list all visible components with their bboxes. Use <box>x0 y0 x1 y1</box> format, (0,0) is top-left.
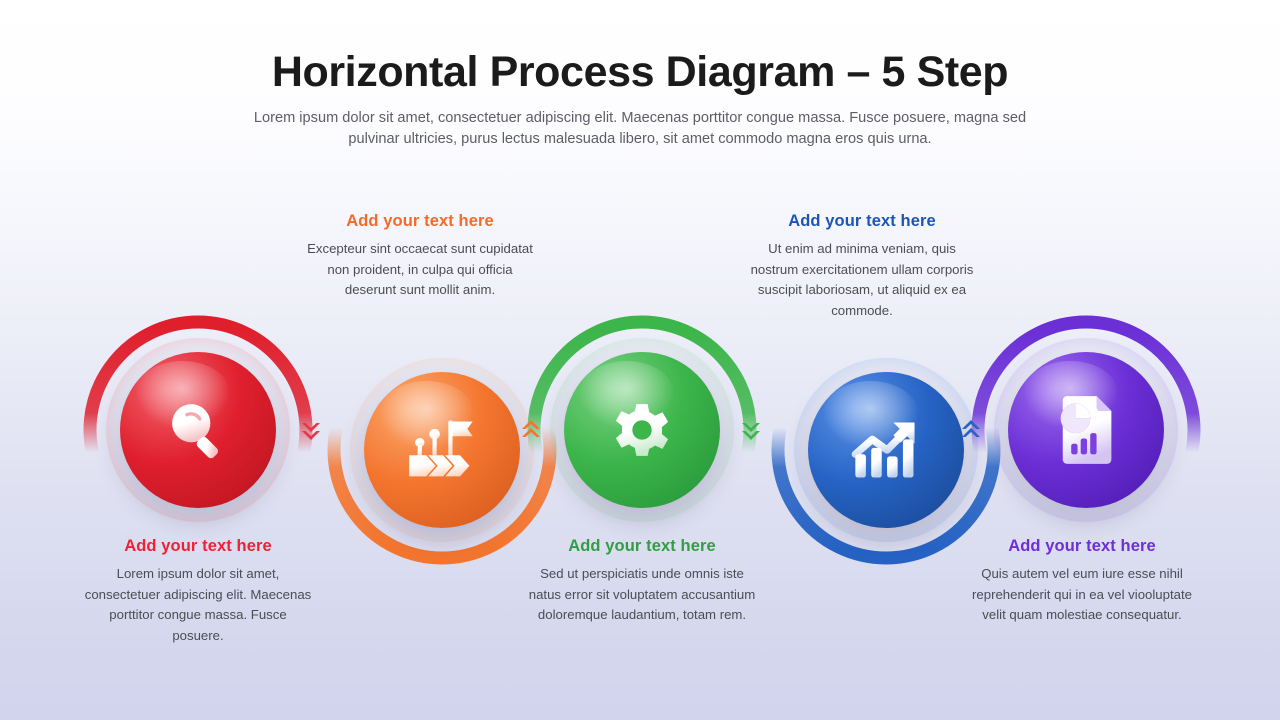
step-4-text-group: Add your text hereUt enim ad minima veni… <box>747 212 977 321</box>
chevron-double-down-icon <box>300 418 322 444</box>
page-subtitle: Lorem ipsum dolor sit amet, consectetuer… <box>250 108 1030 150</box>
step-3-icon-circle[interactable] <box>564 352 720 508</box>
step-2-orb[interactable] <box>342 350 542 550</box>
step-3-body[interactable]: Sed ut perspiciatis unde omnis iste natu… <box>527 564 757 626</box>
milestone-flag-icon <box>405 415 479 485</box>
report-pie-icon <box>1051 393 1121 467</box>
slide-canvas: Horizontal Process Diagram – 5 Step Lore… <box>0 0 1280 720</box>
step-2-icon-circle[interactable] <box>364 372 520 528</box>
step-1-orb[interactable] <box>98 330 298 530</box>
step-1-icon-circle[interactable] <box>120 352 276 508</box>
step-2-text-group: Add your text hereExcepteur sint occaeca… <box>305 212 535 301</box>
chevron-double-up-icon <box>960 418 982 444</box>
step-4-icon-circle[interactable] <box>808 372 964 528</box>
step-4-orb[interactable] <box>786 350 986 550</box>
step-1-body[interactable]: Lorem ipsum dolor sit amet, consectetuer… <box>83 564 313 646</box>
step-2-heading[interactable]: Add your text here <box>305 212 535 231</box>
magnifier-icon <box>162 394 234 466</box>
step-5-heading[interactable]: Add your text here <box>967 537 1197 556</box>
step-3-orb[interactable] <box>542 330 742 530</box>
growth-chart-icon <box>849 416 923 484</box>
step-4-body[interactable]: Ut enim ad minima veniam, quis nostrum e… <box>747 239 977 321</box>
step-1-text-group: Add your text hereLorem ipsum dolor sit … <box>83 537 313 646</box>
step-5-body[interactable]: Quis autem vel eum iure esse nihil repre… <box>967 564 1197 626</box>
step-3-heading[interactable]: Add your text here <box>527 537 757 556</box>
step-1-heading[interactable]: Add your text here <box>83 537 313 556</box>
step-5-orb[interactable] <box>986 330 1186 530</box>
gear-icon <box>606 394 678 466</box>
step-5-text-group: Add your text hereQuis autem vel eum iur… <box>967 537 1197 626</box>
chevron-double-up-icon <box>520 418 542 444</box>
chevron-double-down-icon <box>740 418 762 444</box>
step-4-heading[interactable]: Add your text here <box>747 212 977 231</box>
page-title: Horizontal Process Diagram – 5 Step <box>0 48 1280 97</box>
step-3-text-group: Add your text hereSed ut perspiciatis un… <box>527 537 757 626</box>
step-2-body[interactable]: Excepteur sint occaecat sunt cupidatat n… <box>305 239 535 301</box>
step-5-icon-circle[interactable] <box>1008 352 1164 508</box>
